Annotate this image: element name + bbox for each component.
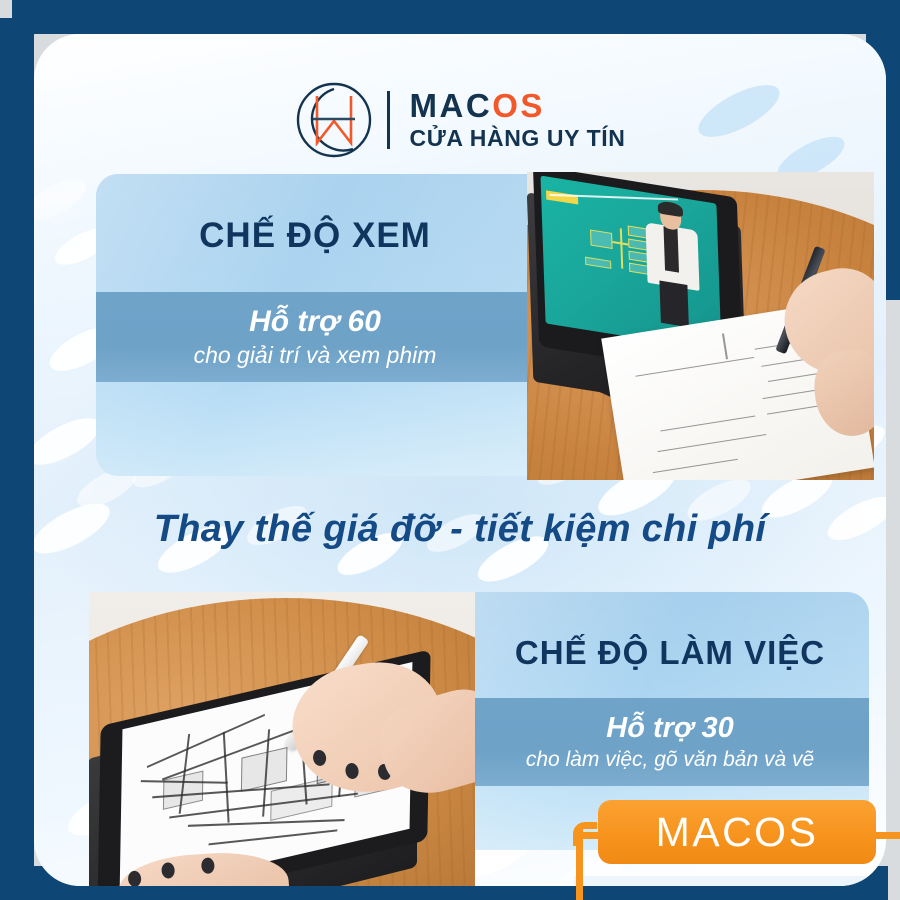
panel-band-view-mode: Hỗ trợ 60 cho giải trí và xem phim bbox=[96, 292, 534, 382]
frame-left-bar bbox=[0, 18, 34, 880]
macos-badge-label: MACOS bbox=[656, 809, 819, 856]
photo-screen-tag bbox=[546, 190, 578, 204]
frame-top-bar bbox=[12, 0, 900, 34]
panel-view-mode: CHẾ ĐỘ XEM Hỗ trợ 60 cho giải trí và xem… bbox=[96, 174, 534, 476]
brand-name-part1: MAC bbox=[410, 87, 493, 124]
band-headline-work-mode: Hỗ trợ 30 bbox=[606, 713, 733, 743]
panel-band-work-mode: Hỗ trợ 30 cho làm việc, gõ văn bản và vẽ bbox=[471, 698, 869, 786]
brand-name-part2: OS bbox=[492, 87, 545, 124]
band-headline-view-mode: Hỗ trợ 60 bbox=[249, 306, 381, 338]
band-sub-view-mode: cho giải trí và xem phim bbox=[194, 343, 437, 368]
panel-title-work-mode: CHẾ ĐỘ LÀM VIỆC bbox=[471, 634, 869, 672]
band-sub-work-mode: cho làm việc, gõ văn bản và vẽ bbox=[526, 748, 814, 771]
logo-divider bbox=[387, 91, 390, 149]
panel-title-view-mode: CHẾ ĐỘ XEM bbox=[96, 216, 534, 256]
brand-header: MACOS CỬA HÀNG UY TÍN bbox=[34, 74, 886, 166]
photo-tablet-upright-video-lecture bbox=[527, 172, 874, 480]
promo-poster: MACOS CỬA HÀNG UY TÍN CHẾ ĐỘ XEM Hỗ trợ … bbox=[0, 0, 900, 900]
photo-screen-presenter bbox=[643, 198, 705, 328]
badge-connector-elbow bbox=[573, 822, 597, 846]
brand-text-block: MACOS CỬA HÀNG UY TÍN bbox=[410, 89, 626, 152]
macos-monogram-icon bbox=[295, 81, 373, 159]
brand-tagline: CỬA HÀNG UY TÍN bbox=[410, 126, 626, 152]
brand-name: MACOS bbox=[410, 89, 545, 124]
poster-card: MACOS CỬA HÀNG UY TÍN CHẾ ĐỘ XEM Hỗ trợ … bbox=[34, 34, 886, 886]
photo-tablet-flat-stylus-drawing bbox=[89, 592, 475, 886]
bottom-right-swoosh bbox=[574, 876, 886, 886]
macos-badge[interactable]: MACOS bbox=[598, 800, 876, 864]
center-headline: Thay thế giá đỡ - tiết kiệm chi phí bbox=[34, 508, 886, 551]
